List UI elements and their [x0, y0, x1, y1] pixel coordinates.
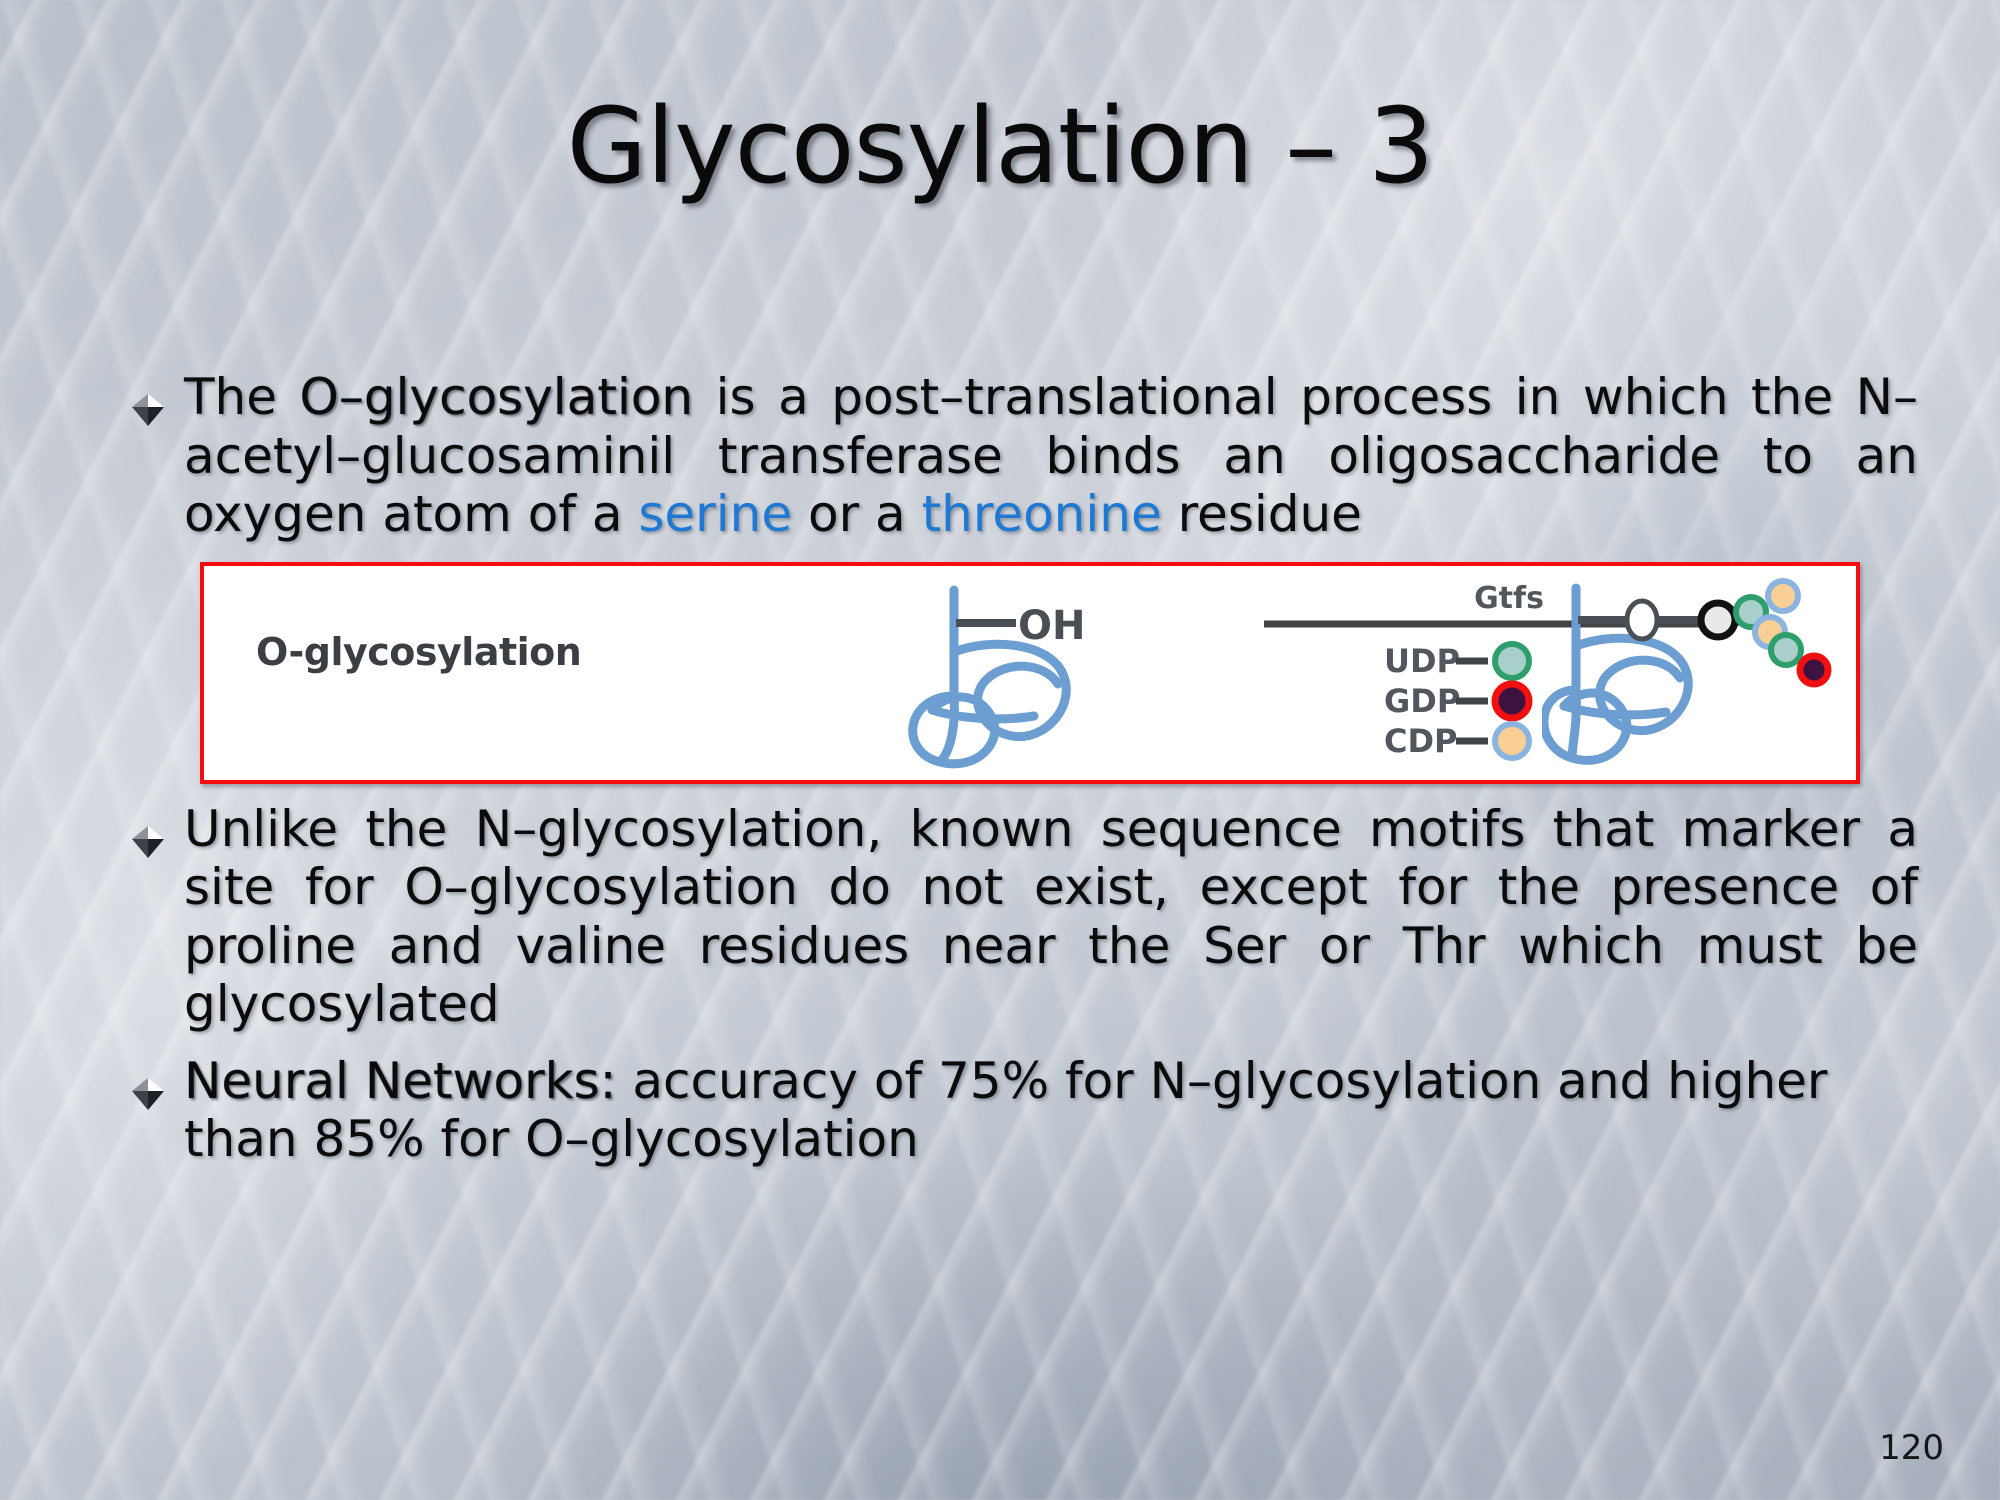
donor-label-udp: UDP [1384, 642, 1460, 680]
seg-plain-1: The [184, 368, 300, 426]
bullet-text-neural-networks: Neural Networks: accuracy of 75% for N–g… [184, 1052, 1918, 1169]
glycan-link-o [1627, 601, 1657, 639]
product-protein-with-glycan-icon [1542, 574, 1862, 779]
donor-label-gdp: GDP [1384, 682, 1460, 720]
seg-highlight-threonine: threonine [922, 485, 1162, 543]
seg-plain-3: or a [792, 485, 921, 543]
reactant-protein-with-oh-icon: OH [894, 576, 1194, 781]
figure-label-o-glycosylation: O-glycosylation [256, 630, 581, 674]
figure-container: O-glycosylation OH [200, 562, 1860, 784]
seg-plain-4: residue [1162, 485, 1362, 543]
bullet-text-sequence-motifs: Unlike the N–glycosylation, known sequen… [184, 800, 1918, 1034]
slide-canvas: Glycosylation – 3 The O–glycosylation is… [0, 0, 2000, 1500]
page-number: 120 [1879, 1428, 1944, 1468]
bullet-item-neural-networks: Neural Networks: accuracy of 75% for N–g… [128, 1052, 1918, 1169]
bullet-item-sequence-motifs: Unlike the N–glycosylation, known sequen… [128, 800, 1918, 1034]
donor-dot-udp [1495, 644, 1529, 678]
donor-dot-cdp [1495, 724, 1529, 758]
bullet-item-o-glycosylation-definition: The O–glycosylation is a post–translatio… [128, 368, 1918, 544]
o-glycosylation-reaction-diagram: O-glycosylation OH [200, 562, 1860, 784]
donor-label-cdp: CDP [1384, 722, 1458, 760]
slide-body: The O–glycosylation is a post–translatio… [128, 368, 1918, 1183]
seg-emphasis-neural-networks: Neural Networks: [184, 1052, 617, 1110]
slide-title: Glycosylation – 3 [0, 92, 2000, 201]
donor-dot-gdp [1495, 684, 1529, 718]
figure-gtfs-label: Gtfs [1474, 581, 1544, 616]
glycan-chain [1701, 581, 1828, 684]
seg-emphasis-o-glycosylation: O–glycosylation [300, 368, 694, 426]
dart-bullet-icon [128, 822, 184, 868]
dart-bullet-icon [128, 390, 184, 436]
bullet-text-o-glycosylation-definition: The O–glycosylation is a post–translatio… [184, 368, 1918, 544]
figure-oh-label: OH [1018, 603, 1085, 649]
dart-bullet-icon [128, 1074, 184, 1120]
seg-highlight-serine: serine [638, 485, 792, 543]
